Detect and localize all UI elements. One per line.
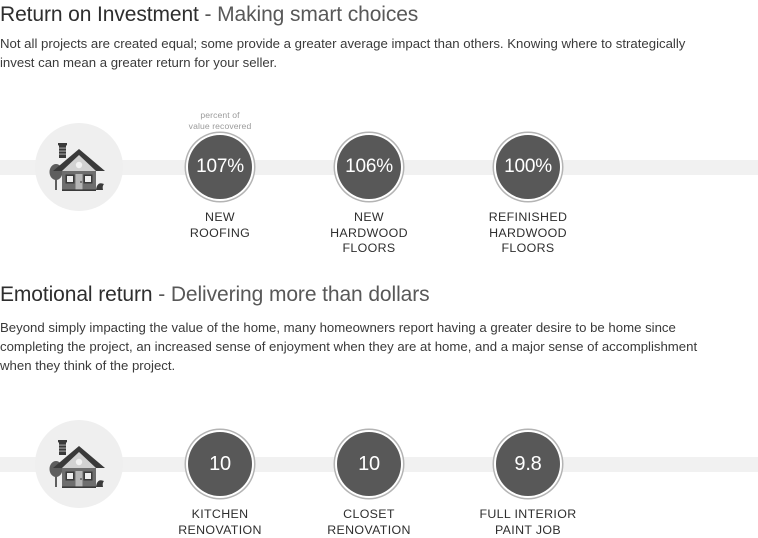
stat-value-badge: 10 (188, 432, 252, 496)
stat-value-badge: 100% (496, 135, 560, 199)
stat-item-closet-renovation: 10 CLOSET RENOVATION (294, 432, 444, 538)
stat-value-badge: 10 (337, 432, 401, 496)
stat-item-kitchen-renovation: 10 KITCHEN RENOVATION (145, 432, 295, 538)
stat-item-new-roofing: 107% NEW ROOFING (145, 135, 295, 241)
stat-item-full-interior-paint-job: 9.8 FULL INTERIOR PAINT JOB (453, 432, 603, 538)
heading-primary-text: Emotional return (0, 283, 152, 306)
stat-label: FULL INTERIOR PAINT JOB (453, 507, 603, 538)
stat-panel-roi: percent of value recovered 107% NEW ROOF… (0, 110, 758, 260)
house-badge (35, 123, 123, 211)
house-icon (48, 438, 110, 490)
section-body-text: Beyond simply impacting the value of the… (0, 318, 710, 375)
section-body-text: Not all projects are created equal; some… (0, 34, 690, 72)
stat-label: NEW HARDWOOD FLOORS (294, 210, 444, 257)
stat-item-new-hardwood-floors: 106% NEW HARDWOOD FLOORS (294, 135, 444, 257)
stat-value-badge: 107% (188, 135, 252, 199)
section-title-emotional: Emotional return - Delivering more than … (0, 284, 430, 305)
annotation-percent-of-value-recovered: percent of value recovered (145, 110, 295, 132)
stat-label: NEW ROOFING (145, 210, 295, 241)
stat-label: REFINISHED HARDWOOD FLOORS (453, 210, 603, 257)
stat-label: KITCHEN RENOVATION (145, 507, 295, 538)
page-title: Return on Investment - Making smart choi… (0, 4, 418, 25)
stat-value-badge: 9.8 (496, 432, 560, 496)
heading-secondary-text: - Delivering more than dollars (152, 283, 429, 306)
stat-panel-emotional: 10 KITCHEN RENOVATION 10 CLOSET RENOVATI… (0, 412, 758, 532)
heading-primary-text: Return on Investment (0, 3, 199, 26)
stat-value-badge: 106% (337, 135, 401, 199)
house-badge (35, 420, 123, 508)
heading-secondary-text: - Making smart choices (199, 3, 418, 26)
house-icon (48, 141, 110, 193)
stat-item-refinished-hardwood-floors: 100% REFINISHED HARDWOOD FLOORS (453, 135, 603, 257)
stat-label: CLOSET RENOVATION (294, 507, 444, 538)
